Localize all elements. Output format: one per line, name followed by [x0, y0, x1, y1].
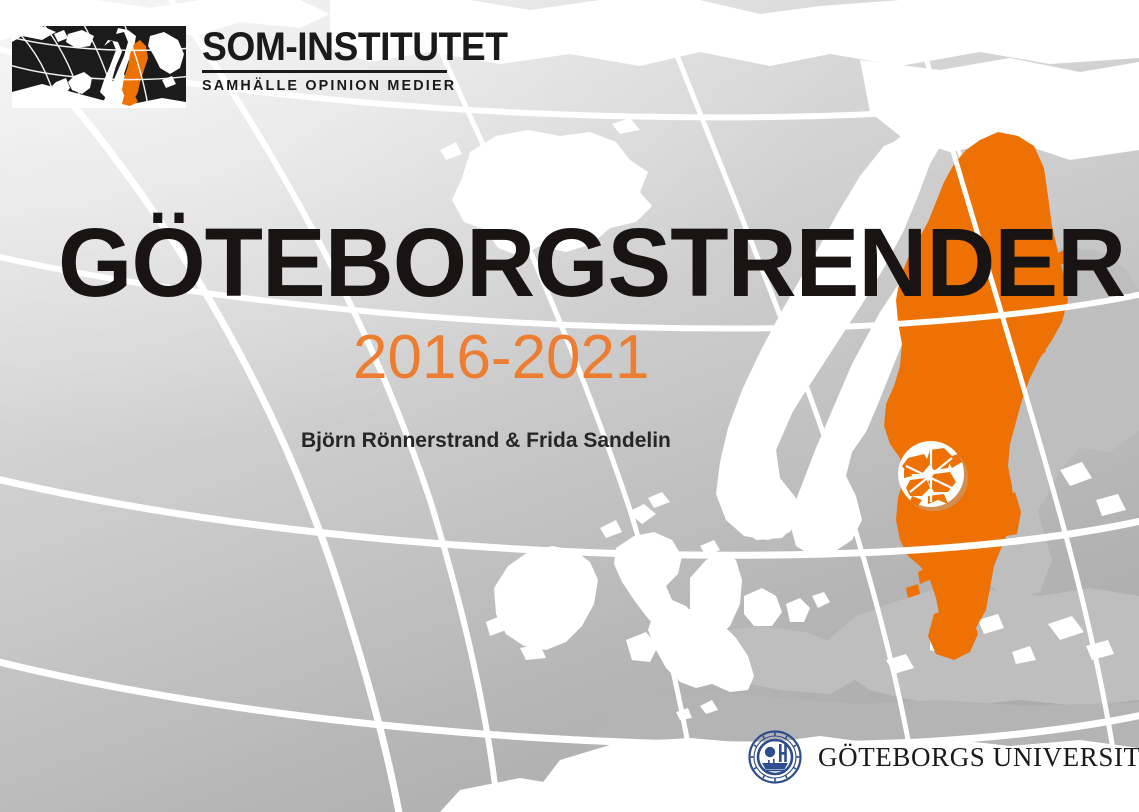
som-institutet-map-mark	[12, 26, 186, 108]
title-block: GÖTEBORGSTRENDER 2016-2021 Björn Rönners…	[58, 214, 958, 453]
gothenburg-university-logo: GÖTEBORGS UNIVERSITET	[748, 730, 1139, 784]
som-institutet-logo: SOM-INSTITUTET SAMHÄLLE OPINION MEDIER	[12, 26, 531, 108]
som-institutet-subtitle: SAMHÄLLE OPINION MEDIER	[202, 78, 527, 94]
gothenburg-university-seal	[748, 730, 802, 784]
som-institutet-wordmark: SOM-INSTITUTET SAMHÄLLE OPINION MEDIER	[202, 28, 531, 94]
subtitle-years: 2016-2021	[353, 327, 958, 389]
som-institutet-title: SOM-INSTITUTET	[202, 28, 508, 67]
som-institutet-underline	[202, 70, 447, 73]
authors-line: Björn Rönnerstrand & Frida Sandelin	[301, 429, 958, 453]
som-mark-map	[12, 26, 186, 108]
university-name: GÖTEBORGS UNIVERSITET	[818, 742, 1139, 773]
title-slide: SOM-INSTITUTET SAMHÄLLE OPINION MEDIER G…	[0, 0, 1139, 812]
page-title: GÖTEBORGSTRENDER	[58, 214, 945, 311]
